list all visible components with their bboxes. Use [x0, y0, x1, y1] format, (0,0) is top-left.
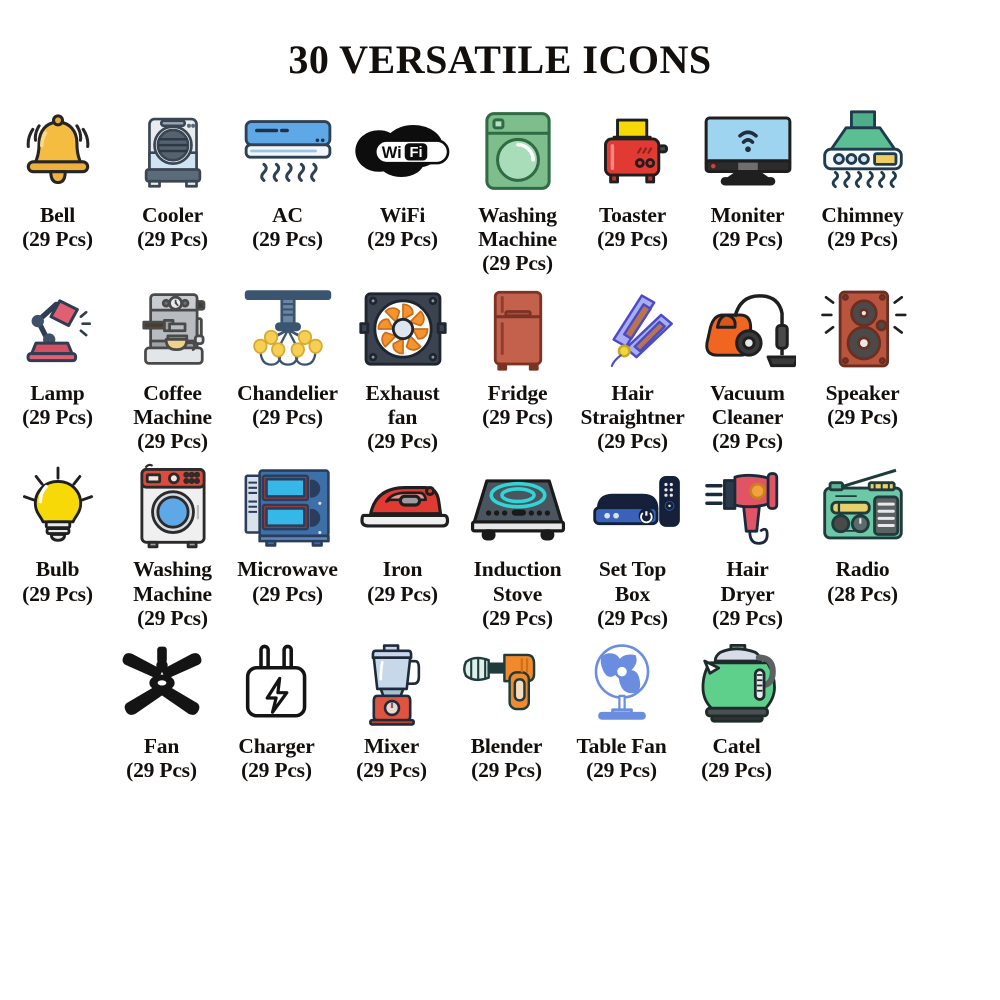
hair-straightener-icon: [581, 283, 685, 375]
speaker-icon: [811, 283, 915, 375]
svg-text:Fi: Fi: [409, 145, 422, 161]
wifi-icon: Wi Fi: [351, 105, 455, 197]
fridge-icon: [466, 283, 570, 375]
induction-stove-icon: [466, 459, 570, 551]
icon-label: Iron: [383, 557, 422, 581]
icon-label: Blender: [471, 734, 542, 758]
radio-icon: [811, 459, 915, 551]
icon-count: (29 Pcs): [137, 429, 208, 453]
icon-count: (29 Pcs): [482, 405, 553, 429]
icon-label: Exhaust fan: [366, 381, 440, 429]
kettle-icon: [685, 636, 789, 728]
icon-label: AC: [272, 203, 303, 227]
icon-cell-speaker[interactable]: Speaker(29 Pcs): [805, 283, 920, 429]
icon-cell-chandelier[interactable]: Chandelier(29 Pcs): [230, 283, 345, 429]
icon-count: (29 Pcs): [137, 227, 208, 251]
icon-label: Washing Machine: [478, 203, 557, 251]
icon-label: Chandelier: [237, 381, 338, 405]
iron-icon: [351, 459, 455, 551]
icon-cell-induction-stove[interactable]: Induction Stove(29 Pcs): [460, 459, 575, 629]
icon-count: (29 Pcs): [597, 606, 668, 630]
mixer-icon: [340, 636, 444, 728]
icon-count: (29 Pcs): [241, 758, 312, 782]
icon-count: (29 Pcs): [367, 227, 438, 251]
icon-count: (29 Pcs): [367, 582, 438, 606]
icon-count: (29 Pcs): [22, 227, 93, 251]
icon-cell-wifi[interactable]: Wi Fi WiFi(29 Pcs): [345, 105, 460, 251]
icon-cell-hair-straightener[interactable]: Hair Straightner(29 Pcs): [575, 283, 690, 453]
icon-count: (29 Pcs): [22, 582, 93, 606]
toaster-icon: [581, 105, 685, 197]
chandelier-icon: [236, 283, 340, 375]
icon-count: (29 Pcs): [126, 758, 197, 782]
icon-count: (29 Pcs): [252, 227, 323, 251]
icon-label: Hair Straightner: [580, 381, 684, 429]
icon-grid: Bell(29 Pcs) Cooler(29 Pcs) AC(29 Pcs) W…: [0, 105, 1000, 782]
bulb-icon: [6, 459, 110, 551]
page-title: 30 VERSATILE ICONS: [0, 0, 1000, 83]
blender-icon: [455, 636, 559, 728]
table-fan-icon: [570, 636, 674, 728]
icon-cell-iron[interactable]: Iron(29 Pcs): [345, 459, 460, 605]
icon-count: (29 Pcs): [712, 227, 783, 251]
icon-label: Hair Dryer: [721, 557, 775, 605]
icon-row-1: Bell(29 Pcs) Cooler(29 Pcs) AC(29 Pcs) W…: [0, 105, 1000, 275]
vacuum-cleaner-icon: [696, 283, 800, 375]
icon-count: (29 Pcs): [586, 758, 657, 782]
icon-label: Chimney: [821, 203, 903, 227]
hair-dryer-icon: [696, 459, 800, 551]
exhaust-fan-icon: [351, 283, 455, 375]
icon-cell-mixer[interactable]: Mixer(29 Pcs): [334, 636, 449, 782]
icon-count: (29 Pcs): [482, 606, 553, 630]
icon-cell-monitor[interactable]: Moniter(29 Pcs): [690, 105, 805, 251]
icon-count: (29 Pcs): [252, 405, 323, 429]
icon-label: Coffee Machine: [133, 381, 212, 429]
icon-count: (29 Pcs): [252, 582, 323, 606]
icon-label: Vacuum Cleaner: [710, 381, 784, 429]
icon-cell-coffee-machine[interactable]: Coffee Machine(29 Pcs): [115, 283, 230, 453]
svg-text:Wi: Wi: [381, 144, 401, 162]
icon-label: Table Fan: [576, 734, 666, 758]
icon-label: Bulb: [36, 557, 79, 581]
set-top-box-icon: [581, 459, 685, 551]
icon-label: WiFi: [380, 203, 425, 227]
icon-row-2: Lamp(29 Pcs) Coffee Machine(29 Pcs) Chan…: [0, 283, 1000, 453]
icon-cell-microwave[interactable]: Microwave(29 Pcs): [230, 459, 345, 605]
icon-row-3: Bulb(29 Pcs) Washing Machine(29 Pcs) Mic…: [0, 459, 1000, 629]
icon-label: Moniter: [711, 203, 785, 227]
icon-cell-chimney[interactable]: Chimney(29 Pcs): [805, 105, 920, 251]
icon-count: (29 Pcs): [22, 405, 93, 429]
icon-cell-ac[interactable]: AC(29 Pcs): [230, 105, 345, 251]
icon-label: Lamp: [30, 381, 84, 405]
icon-count: (29 Pcs): [827, 227, 898, 251]
icon-count: (29 Pcs): [712, 606, 783, 630]
icon-cell-radio[interactable]: Radio(28 Pcs): [805, 459, 920, 605]
icon-cell-cooler[interactable]: Cooler(29 Pcs): [115, 105, 230, 251]
icon-cell-kettle[interactable]: Catel(29 Pcs): [679, 636, 794, 782]
icon-cell-toaster[interactable]: Toaster(29 Pcs): [575, 105, 690, 251]
icon-label: Charger: [238, 734, 314, 758]
icon-cell-vacuum-cleaner[interactable]: Vacuum Cleaner(29 Pcs): [690, 283, 805, 453]
icon-count: (29 Pcs): [356, 758, 427, 782]
icon-count: (29 Pcs): [482, 251, 553, 275]
icon-row-4: Fan(29 Pcs) Charger(29 Pcs) Mixer(29 Pcs…: [0, 636, 1000, 782]
icon-cell-bulb[interactable]: Bulb(29 Pcs): [0, 459, 115, 605]
icon-label: Induction Stove: [474, 557, 562, 605]
ceiling-fan-icon: [110, 636, 214, 728]
icon-cell-bell[interactable]: Bell(29 Pcs): [0, 105, 115, 251]
icon-count: (29 Pcs): [597, 227, 668, 251]
icon-cell-washing-machine[interactable]: Washing Machine(29 Pcs): [460, 105, 575, 275]
icon-label: Toaster: [599, 203, 666, 227]
icon-label: Cooler: [142, 203, 203, 227]
coffee-machine-icon: [121, 283, 225, 375]
icon-count: (28 Pcs): [827, 582, 898, 606]
icon-count: (29 Pcs): [137, 606, 208, 630]
icon-cell-washing-machine2[interactable]: Washing Machine(29 Pcs): [115, 459, 230, 629]
icon-cell-ceiling-fan[interactable]: Fan(29 Pcs): [104, 636, 219, 782]
icon-cell-set-top-box[interactable]: Set Top Box(29 Pcs): [575, 459, 690, 629]
icon-cell-fridge[interactable]: Fridge(29 Pcs): [460, 283, 575, 429]
icon-cell-hair-dryer[interactable]: Hair Dryer(29 Pcs): [690, 459, 805, 629]
icon-cell-blender[interactable]: Blender(29 Pcs): [449, 636, 564, 782]
icon-label: Mixer: [364, 734, 419, 758]
icon-count: (29 Pcs): [367, 429, 438, 453]
cooler-icon: [121, 105, 225, 197]
icon-count: (29 Pcs): [701, 758, 772, 782]
icon-cell-lamp[interactable]: Lamp(29 Pcs): [0, 283, 115, 429]
icon-cell-table-fan[interactable]: Table Fan(29 Pcs): [564, 636, 679, 782]
icon-label: Bell: [40, 203, 75, 227]
chimney-icon: [811, 105, 915, 197]
icon-count: (29 Pcs): [471, 758, 542, 782]
icon-label: Catel: [713, 734, 761, 758]
microwave-icon: [236, 459, 340, 551]
bell-icon: [6, 105, 110, 197]
icon-count: (29 Pcs): [597, 429, 668, 453]
icon-label: Radio: [836, 557, 890, 581]
washing-machine-icon: [466, 105, 570, 197]
icon-label: Fan: [144, 734, 179, 758]
icon-label: Set Top Box: [599, 557, 666, 605]
washing-machine2-icon: [121, 459, 225, 551]
icon-count: (29 Pcs): [827, 405, 898, 429]
icon-label: Speaker: [826, 381, 900, 405]
icon-label: Fridge: [488, 381, 548, 405]
icon-label: Washing Machine: [133, 557, 212, 605]
icon-cell-charger[interactable]: Charger(29 Pcs): [219, 636, 334, 782]
icon-count: (29 Pcs): [712, 429, 783, 453]
icon-cell-exhaust-fan[interactable]: Exhaust fan(29 Pcs): [345, 283, 460, 453]
lamp-icon: [6, 283, 110, 375]
ac-icon: [236, 105, 340, 197]
monitor-icon: [696, 105, 800, 197]
charger-icon: [225, 636, 329, 728]
icon-label: Microwave: [237, 557, 337, 581]
